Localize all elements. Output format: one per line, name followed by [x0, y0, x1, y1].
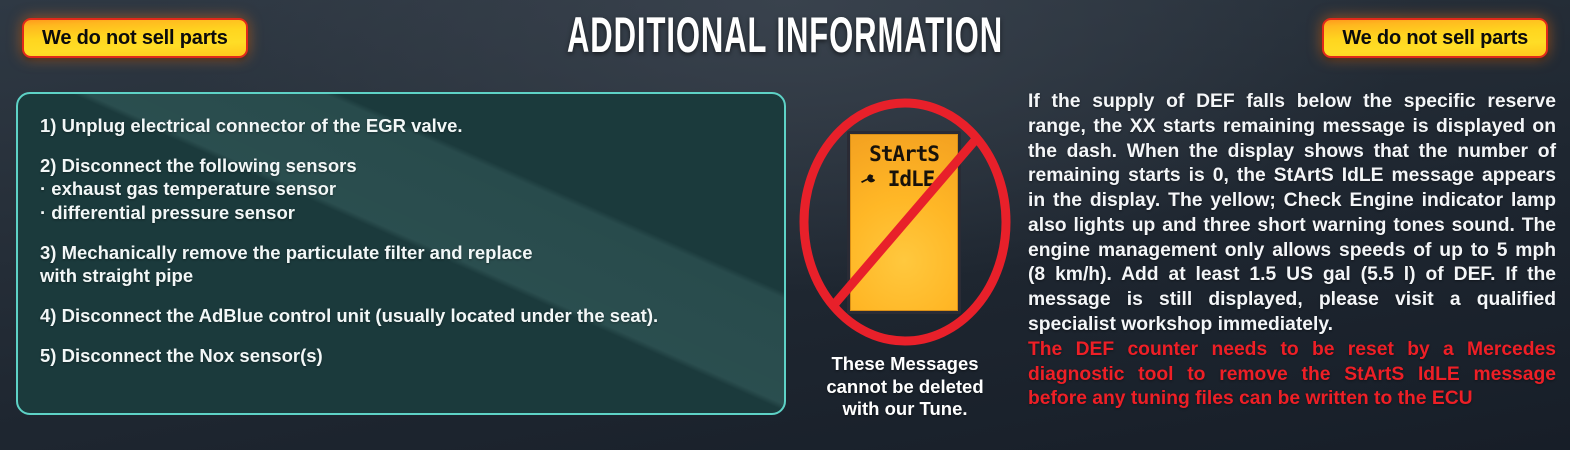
info-text-column: If the supply of DEF falls below the spe… [1028, 90, 1556, 412]
additional-information-banner: We do not sell parts ADDITIONAL INFORMAT… [0, 0, 1570, 450]
list-item: 1) Unplug electrical connector of the EG… [40, 114, 762, 138]
lcd-caption: These Messages cannot be deleted with ou… [789, 353, 1021, 421]
dashboard-message-illustration: StArtS IdLE These Messages cannot be del… [795, 95, 1020, 425]
info-body-text: If the supply of DEF falls below the spe… [1028, 90, 1556, 338]
list-item: 2) Disconnect the following sensors · ex… [40, 154, 762, 225]
instructions-panel: 1) Unplug electrical connector of the EG… [16, 92, 786, 415]
instruction-step-list: 1) Unplug electrical connector of the EG… [18, 94, 784, 367]
badge-right-label: We do not sell parts [1342, 27, 1528, 50]
list-item: 5) Disconnect the Nox sensor(s) [40, 344, 762, 368]
info-warning-text: The DEF counter needs to be reset by a M… [1028, 338, 1556, 412]
badge-we-do-not-sell-parts-left: We do not sell parts [22, 18, 248, 58]
page-title: ADDITIONAL INFORMATION [298, 8, 1271, 63]
badge-we-do-not-sell-parts-right: We do not sell parts [1322, 18, 1548, 58]
badge-left-label: We do not sell parts [42, 27, 228, 50]
list-item: 4) Disconnect the AdBlue control unit (u… [40, 304, 762, 328]
prohibition-sign-icon [795, 95, 1015, 350]
list-item: 3) Mechanically remove the particulate f… [40, 241, 762, 288]
